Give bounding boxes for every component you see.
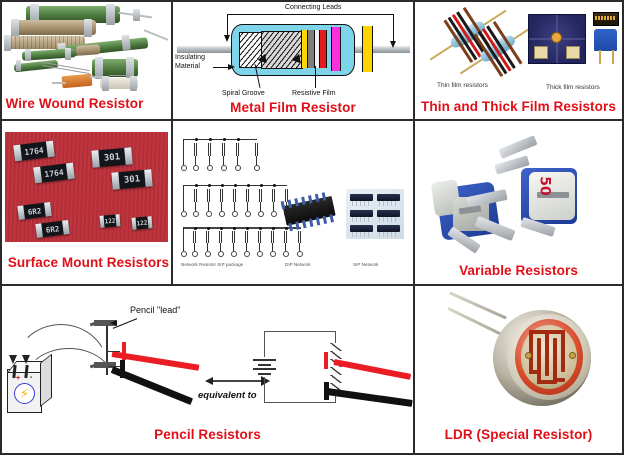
ldr-lead-1: [449, 292, 507, 320]
thick-film-pad-right: [566, 46, 580, 59]
cell-thin-thick-film: Thin film resistors Thick film resistors…: [415, 2, 622, 119]
lead-right: [348, 46, 410, 53]
smd-chip-code: 1764: [24, 145, 44, 156]
thick-film-center-dot: [551, 32, 562, 43]
smd-chip-code: 1764: [44, 167, 64, 178]
caption-wire-wound: Wire Wound Resistor: [2, 96, 171, 111]
cell-wire-wound: Wire Wound Resistor: [2, 2, 171, 119]
label-spiral-groove: Spiral Groove: [222, 90, 265, 99]
caption-thin-thick-film: Thin and Thick Film Resistors: [415, 99, 622, 114]
label-insulating: Insulating: [175, 54, 205, 61]
cell-network-resistors: Network Resistor SIP package DIP Network…: [173, 121, 413, 284]
smd-chip: 122: [100, 214, 121, 228]
smd-chip-code: 122: [136, 219, 147, 227]
cell-variable-resistors: 50 Variable Resistors: [415, 121, 622, 284]
cell-metal-film: Connecting Leads Insulating Material Spi…: [173, 2, 413, 119]
ldr-contact-right: [569, 352, 576, 359]
label-sip-network: SIP Network: [353, 261, 378, 270]
trimmer-potentiometer-left: [429, 179, 525, 271]
caption-surface-mount: Surface Mount Resistors: [6, 255, 171, 270]
caption-ldr: LDR (Special Resistor): [415, 427, 622, 442]
smd-chip-code: 6R2: [27, 206, 42, 217]
power-bolt-icon: ⚡: [14, 383, 35, 404]
ldr-serpentine-track: [525, 330, 573, 384]
label-network-resistor-sip-package: Network Resistor SIP package: [181, 261, 243, 270]
smd-chip-code: 301: [123, 174, 140, 185]
equivalent-arrow: [212, 380, 262, 382]
terminal-plus: +: [16, 375, 20, 382]
label-connecting-leads: Connecting Leads: [285, 4, 341, 13]
wire-wound-artwork: [2, 2, 171, 94]
smd-chip-code: 122: [104, 217, 115, 225]
cell-surface-mount: 1764 1764 301 301 6R2 6R2 122 122 Surfac…: [2, 121, 171, 284]
label-pencil-lead: Pencil "lead": [130, 306, 180, 315]
smd-chip: 122: [132, 216, 153, 230]
trimmer-value-marking: 50: [537, 176, 553, 195]
label-equivalent-to: equivalent to: [198, 390, 257, 401]
cell-ldr: LDR (Special Resistor): [415, 286, 622, 453]
band-magenta: [331, 27, 341, 71]
label-thick-film-resistors: Thick film resistors: [546, 84, 600, 91]
label-insulating-material: Insulating Material: [175, 54, 205, 71]
sip-network-packages: [346, 189, 404, 239]
label-resistive-film: Resistive Film: [292, 90, 336, 99]
smd-chip: 301: [111, 169, 152, 189]
thick-film-blue-package: [594, 29, 617, 51]
caption-pencil-resistors: Pencil Resistors: [2, 427, 413, 442]
label-thin-film-resistors: Thin film resistors: [437, 82, 488, 89]
smd-chip-code: 6R2: [45, 224, 60, 235]
resistor-types-poster: Wire Wound Resistor Connecting Leads Ins…: [0, 0, 624, 455]
caption-metal-film: Metal Film Resistor: [173, 100, 413, 115]
smd-chip-code: 301: [103, 152, 120, 163]
network-schematic-sip: [183, 139, 263, 171]
smd-chip: 301: [91, 147, 132, 167]
label-material: Material: [175, 63, 200, 70]
cell-pencil-resistors: ⚡ + - Pencil "lead" equivalent to: [2, 286, 413, 453]
caption-variable-resistors: Variable Resistors: [415, 263, 622, 278]
ldr-contact-left: [525, 352, 532, 359]
label-dip-network: DIP Network: [285, 261, 311, 270]
thick-film-pad-left: [534, 46, 548, 59]
band-yellow-2: [362, 26, 373, 72]
